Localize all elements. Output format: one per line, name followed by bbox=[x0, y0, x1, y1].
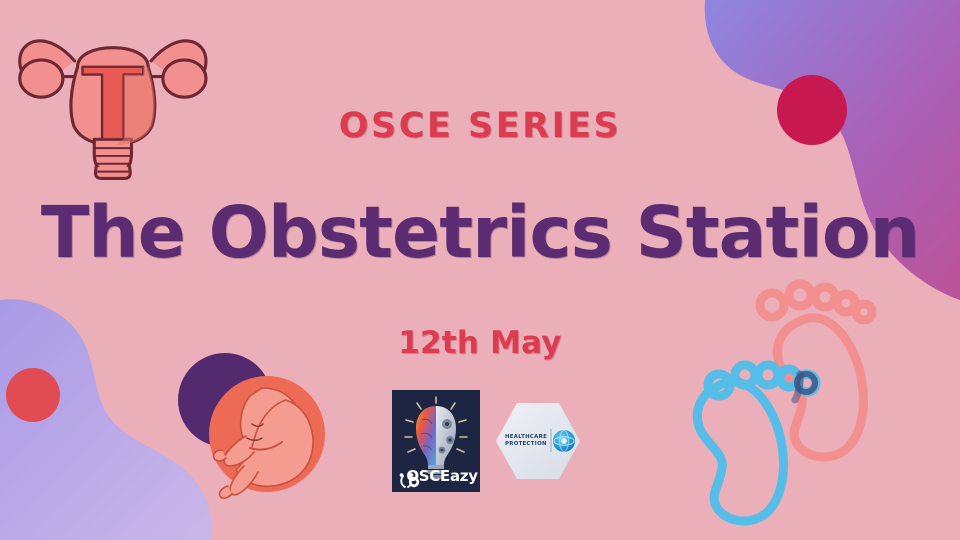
hpl-line-2: PROTECTION bbox=[505, 441, 549, 448]
healthcare-protection-logo: HEALTHCARE PROTECTION bbox=[492, 395, 584, 487]
baby-footprints-illustration bbox=[697, 284, 872, 521]
healthcare-protection-text: HEALTHCARE PROTECTION bbox=[505, 434, 549, 448]
osceazy-logo: OSCEazy bbox=[392, 390, 480, 492]
poster-canvas: OSCE SERIES The Obstetrics Station 12th … bbox=[0, 0, 960, 540]
hpl-line-1: HEALTHCARE bbox=[505, 434, 549, 441]
uterus-illustration bbox=[20, 41, 206, 179]
logo-row: OSCEazy bbox=[392, 388, 588, 494]
fetus-illustration bbox=[209, 376, 325, 498]
blue-globe-icon bbox=[553, 430, 575, 452]
osceazy-brand-text: OSCEazy bbox=[392, 467, 480, 485]
